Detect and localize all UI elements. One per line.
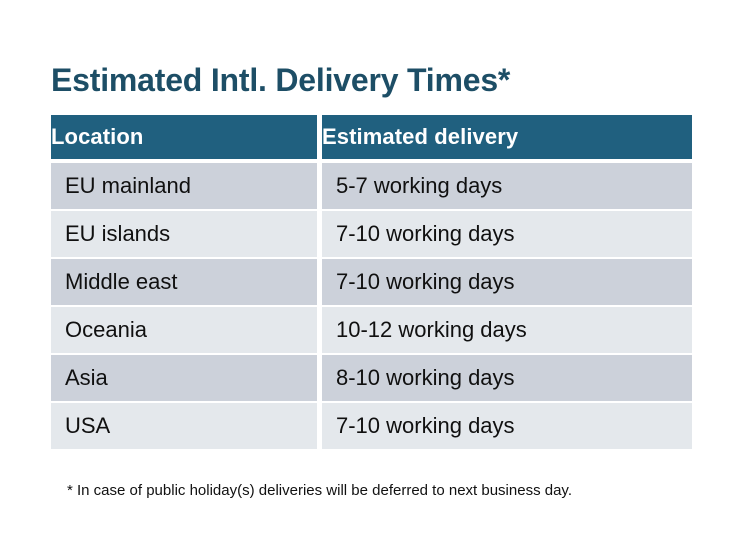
table-row: Oceania 10-12 working days <box>51 307 692 353</box>
table-row: USA 7-10 working days <box>51 403 692 449</box>
cell-delivery: 7-10 working days <box>322 259 692 305</box>
cell-location: USA <box>51 403 317 449</box>
table-row: EU mainland 5-7 working days <box>51 163 692 209</box>
cell-delivery: 5-7 working days <box>322 163 692 209</box>
table-row: Asia 8-10 working days <box>51 355 692 401</box>
table-header: Location Estimated delivery <box>51 115 692 159</box>
table-row: Middle east 7-10 working days <box>51 259 692 305</box>
cell-delivery: 7-10 working days <box>322 211 692 257</box>
table-body: EU mainland 5-7 working days EU islands … <box>51 159 692 449</box>
table-header-row: Location Estimated delivery <box>51 115 692 159</box>
cell-location: Asia <box>51 355 317 401</box>
column-header-location: Location <box>51 115 317 159</box>
cell-location: Oceania <box>51 307 317 353</box>
delivery-times-card: Estimated Intl. Delivery Times* Location… <box>0 0 745 536</box>
table-row: EU islands 7-10 working days <box>51 211 692 257</box>
page-title: Estimated Intl. Delivery Times* <box>51 59 510 101</box>
delivery-times-table: Location Estimated delivery EU mainland … <box>51 115 692 449</box>
cell-delivery: 8-10 working days <box>322 355 692 401</box>
cell-delivery: 10-12 working days <box>322 307 692 353</box>
cell-delivery: 7-10 working days <box>322 403 692 449</box>
cell-location: Middle east <box>51 259 317 305</box>
column-header-delivery: Estimated delivery <box>322 115 692 159</box>
cell-location: EU mainland <box>51 163 317 209</box>
footnote: * In case of public holiday(s) deliverie… <box>67 481 572 501</box>
cell-location: EU islands <box>51 211 317 257</box>
